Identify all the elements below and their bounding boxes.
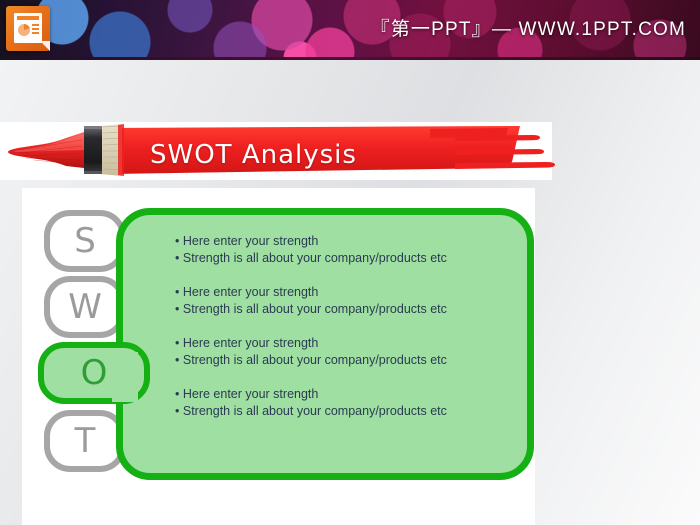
bullet-item: Here enter your strength bbox=[175, 386, 511, 403]
page-fold-glyph bbox=[40, 41, 50, 51]
bullet-group: Here enter your strength Strength is all… bbox=[175, 284, 511, 318]
bullet-list: Here enter your strength Strength is all… bbox=[175, 233, 511, 420]
chart-bars-glyph bbox=[32, 24, 39, 36]
slide-title: SWOT Analysis bbox=[150, 140, 357, 170]
bullet-group: Here enter your strength Strength is all… bbox=[175, 335, 511, 369]
bullet-group: Here enter your strength Strength is all… bbox=[175, 386, 511, 420]
powerpoint-icon bbox=[6, 6, 50, 51]
swot-letter-s[interactable]: S bbox=[44, 210, 126, 272]
bullet-group: Here enter your strength Strength is all… bbox=[175, 233, 511, 267]
bullet-item: Strength is all about your company/produ… bbox=[175, 250, 511, 267]
bullet-item: Strength is all about your company/produ… bbox=[175, 352, 511, 369]
bullet-item: Here enter your strength bbox=[175, 284, 511, 301]
swot-letter-t[interactable]: T bbox=[44, 410, 126, 472]
bullet-item: Strength is all about your company/produ… bbox=[175, 403, 511, 420]
bullet-item: Here enter your strength bbox=[175, 233, 511, 250]
site-watermark-title: 『第一PPT』— WWW.1PPT.COM bbox=[371, 14, 686, 41]
powerpoint-icon-page bbox=[14, 13, 42, 43]
pie-chart-glyph bbox=[18, 24, 30, 36]
slide-canvas: SWOT Analysis S W O T Here enter your st… bbox=[0, 60, 700, 525]
swot-letter-w-label: W bbox=[68, 287, 102, 327]
panel-letter-merge bbox=[112, 352, 138, 402]
swot-letter-w[interactable]: W bbox=[44, 276, 126, 338]
swot-letter-s-label: S bbox=[74, 221, 96, 261]
swot-letter-o-label: O bbox=[81, 353, 108, 393]
top-banner: 『第一PPT』— WWW.1PPT.COM bbox=[0, 0, 700, 60]
swot-letter-t-label: T bbox=[75, 421, 96, 461]
swot-content-panel: Here enter your strength Strength is all… bbox=[116, 208, 534, 480]
bullet-item: Strength is all about your company/produ… bbox=[175, 301, 511, 318]
bullet-item: Here enter your strength bbox=[175, 335, 511, 352]
